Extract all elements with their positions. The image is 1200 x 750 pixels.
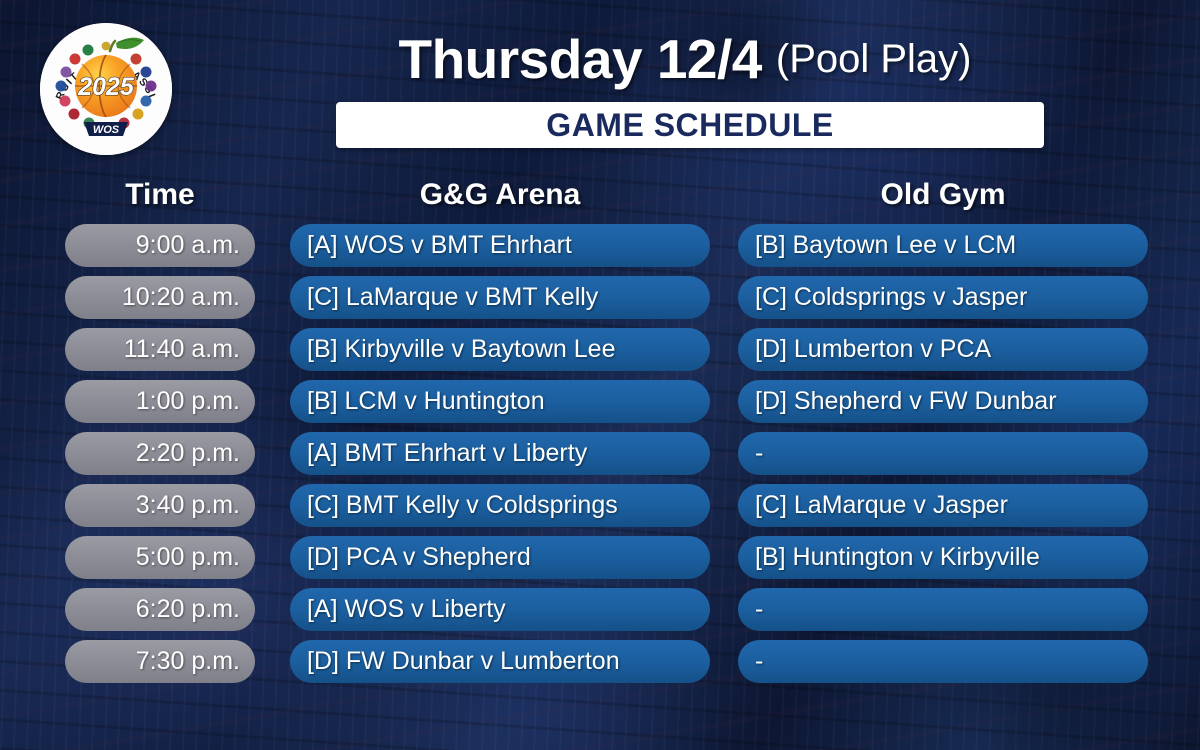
game-pill-gg-arena: [D] FW Dunbar v Lumberton bbox=[290, 640, 710, 683]
game-pill-gg-arena: [A] WOS v Liberty bbox=[290, 588, 710, 631]
game-pill-old-gym: - bbox=[738, 640, 1148, 683]
game-pill-old-gym: [C] Coldsprings v Jasper bbox=[738, 276, 1148, 319]
fruit-city-classic-logo: FRUIT CITY CLASSIC 2025 bbox=[40, 23, 172, 155]
game-pill-gg-arena: [B] LCM v Huntington bbox=[290, 380, 710, 423]
game-pill-old-gym: [B] Baytown Lee v LCM bbox=[738, 224, 1148, 267]
time-pill: 5:00 p.m. bbox=[65, 536, 255, 579]
schedule-table: Time G&G Arena Old Gym 9:00 a.m. [A] WOS… bbox=[0, 178, 1200, 692]
schedule-rows: 9:00 a.m. [A] WOS v BMT Ehrhart [B] Bayt… bbox=[0, 224, 1200, 692]
svg-text:2025: 2025 bbox=[77, 73, 135, 101]
schedule-poster: FRUIT CITY CLASSIC 2025 bbox=[0, 0, 1200, 750]
table-row: 5:00 p.m. [D] PCA v Shepherd [B] Hunting… bbox=[0, 536, 1200, 588]
title-main: Thursday 12/4 bbox=[398, 27, 761, 91]
schedule-header-row: Time G&G Arena Old Gym bbox=[0, 178, 1200, 224]
game-pill-gg-arena: [D] PCA v Shepherd bbox=[290, 536, 710, 579]
game-pill-gg-arena: [B] Kirbyville v Baytown Lee bbox=[290, 328, 710, 371]
time-pill: 7:30 p.m. bbox=[65, 640, 255, 683]
game-pill-gg-arena: [C] LaMarque v BMT Kelly bbox=[290, 276, 710, 319]
table-row: 1:00 p.m. [B] LCM v Huntington [D] Sheph… bbox=[0, 380, 1200, 432]
table-row: 10:20 a.m. [C] LaMarque v BMT Kelly [C] … bbox=[0, 276, 1200, 328]
game-pill-old-gym: - bbox=[738, 588, 1148, 631]
column-header-time: Time bbox=[65, 178, 255, 212]
time-pill: 2:20 p.m. bbox=[65, 432, 255, 475]
table-row: 7:30 p.m. [D] FW Dunbar v Lumberton - bbox=[0, 640, 1200, 692]
time-pill: 3:40 p.m. bbox=[65, 484, 255, 527]
svg-text:WOS: WOS bbox=[93, 124, 120, 136]
table-row: 11:40 a.m. [B] Kirbyville v Baytown Lee … bbox=[0, 328, 1200, 380]
table-row: 6:20 p.m. [A] WOS v Liberty - bbox=[0, 588, 1200, 640]
time-pill: 11:40 a.m. bbox=[65, 328, 255, 371]
game-pill-gg-arena: [A] BMT Ehrhart v Liberty bbox=[290, 432, 710, 475]
time-pill: 6:20 p.m. bbox=[65, 588, 255, 631]
table-row: 9:00 a.m. [A] WOS v BMT Ehrhart [B] Bayt… bbox=[0, 224, 1200, 276]
game-schedule-banner: GAME SCHEDULE bbox=[336, 102, 1044, 148]
time-pill: 9:00 a.m. bbox=[65, 224, 255, 267]
game-pill-old-gym: [B] Huntington v Kirbyville bbox=[738, 536, 1148, 579]
banner-label: GAME SCHEDULE bbox=[546, 107, 833, 144]
game-pill-gg-arena: [C] BMT Kelly v Coldsprings bbox=[290, 484, 710, 527]
game-pill-old-gym: - bbox=[738, 432, 1148, 475]
table-row: 2:20 p.m. [A] BMT Ehrhart v Liberty - bbox=[0, 432, 1200, 484]
time-pill: 10:20 a.m. bbox=[65, 276, 255, 319]
page-title: Thursday 12/4 (Pool Play) bbox=[200, 26, 1170, 92]
column-header-gg-arena: G&G Arena bbox=[290, 178, 710, 212]
table-row: 3:40 p.m. [C] BMT Kelly v Coldsprings [C… bbox=[0, 484, 1200, 536]
title-subtitle: (Pool Play) bbox=[776, 37, 972, 82]
game-pill-old-gym: [D] Shepherd v FW Dunbar bbox=[738, 380, 1148, 423]
game-pill-old-gym: [C] LaMarque v Jasper bbox=[738, 484, 1148, 527]
game-pill-old-gym: [D] Lumberton v PCA bbox=[738, 328, 1148, 371]
time-pill: 1:00 p.m. bbox=[65, 380, 255, 423]
logo-artwork: FRUIT CITY CLASSIC 2025 bbox=[40, 23, 172, 155]
game-pill-gg-arena: [A] WOS v BMT Ehrhart bbox=[290, 224, 710, 267]
column-header-old-gym: Old Gym bbox=[738, 178, 1148, 212]
